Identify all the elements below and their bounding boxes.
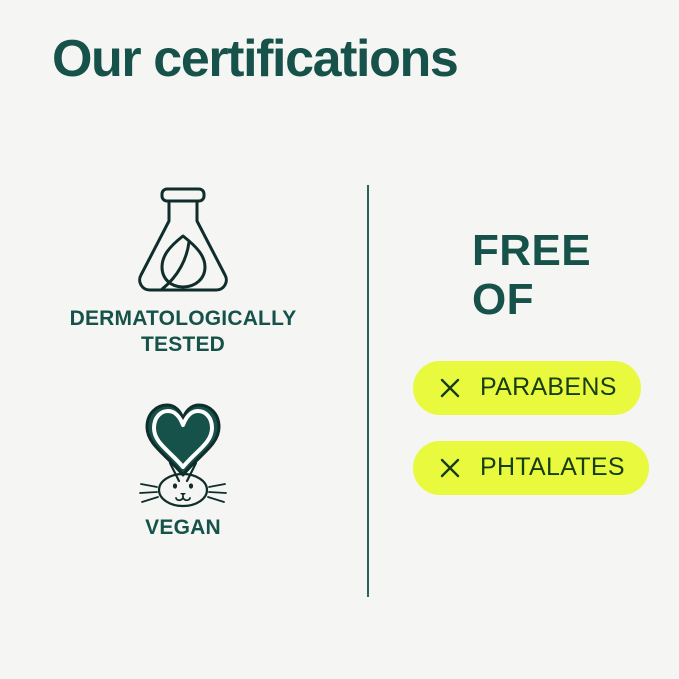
page-title: Our certifications (52, 29, 457, 90)
bunny-heart-icon (127, 391, 239, 509)
free-of-heading: FREE OF (472, 226, 663, 325)
free-of-badge-phtalates: PHTALATES (413, 441, 649, 495)
certifications-column: DERMATOLOGICALLY TESTED (18, 180, 348, 541)
x-icon (439, 457, 461, 479)
free-of-heading-line-2: OF (472, 275, 663, 324)
free-of-list: PARABENS PHTALATES (413, 361, 663, 495)
certifications-panel: Our certifications (0, 0, 679, 679)
free-of-heading-line-1: FREE (472, 226, 663, 275)
column-divider (367, 185, 369, 597)
certification-item-vegan: VEGAN (18, 391, 348, 541)
free-of-badge-label: PARABENS (480, 373, 617, 402)
certification-label: VEGAN (145, 515, 221, 541)
free-of-column: FREE OF PARABENS (413, 226, 663, 495)
free-of-badge-label: PHTALATES (480, 453, 625, 482)
x-icon (439, 377, 461, 399)
certification-item-dermatologically-tested: DERMATOLOGICALLY TESTED (18, 180, 348, 357)
certification-label: DERMATOLOGICALLY TESTED (33, 306, 333, 357)
flask-leaf-icon (129, 180, 237, 298)
free-of-badge-parabens: PARABENS (413, 361, 641, 415)
certifications-columns: DERMATOLOGICALLY TESTED (0, 180, 679, 610)
